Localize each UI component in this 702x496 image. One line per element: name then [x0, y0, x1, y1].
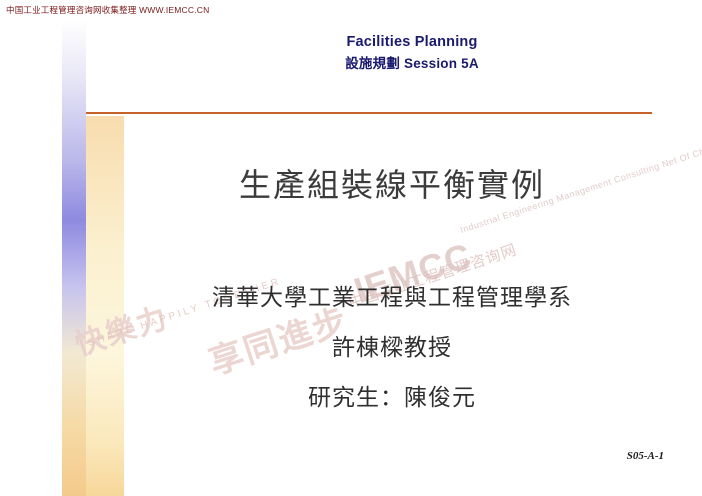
slide-number-label: S05-A-1: [627, 450, 664, 462]
left-decorative-band-inner: [62, 20, 86, 496]
header-title-zh: 設施規劃 Session 5A: [202, 52, 622, 72]
slide-main-title: 生產組裝線平衡實例: [132, 160, 652, 206]
body-line-professor: 許棟樑教授: [122, 328, 662, 362]
source-credit-line: 中国工业工程管理咨询网收集整理 WWW.IEMCC.CN: [6, 4, 209, 16]
slide-header: Facilities Planning 設施規劃 Session 5A: [202, 34, 622, 72]
left-band-white-top: [86, 20, 124, 116]
slide-body: 清華大學工業工程與工程管理學系 許棟樑教授 研究生：陳俊元: [122, 278, 662, 412]
body-line-department: 清華大學工業工程與工程管理學系: [122, 278, 662, 312]
slide-canvas: Facilities Planning 設施規劃 Session 5A 快樂力 …: [62, 20, 702, 496]
header-divider: [86, 112, 652, 114]
body-line-student: 研究生：陳俊元: [122, 378, 662, 412]
header-title-en: Facilities Planning: [202, 34, 622, 50]
slide-page: 中国工业工程管理咨询网收集整理 WWW.IEMCC.CN Facilities …: [0, 0, 702, 496]
